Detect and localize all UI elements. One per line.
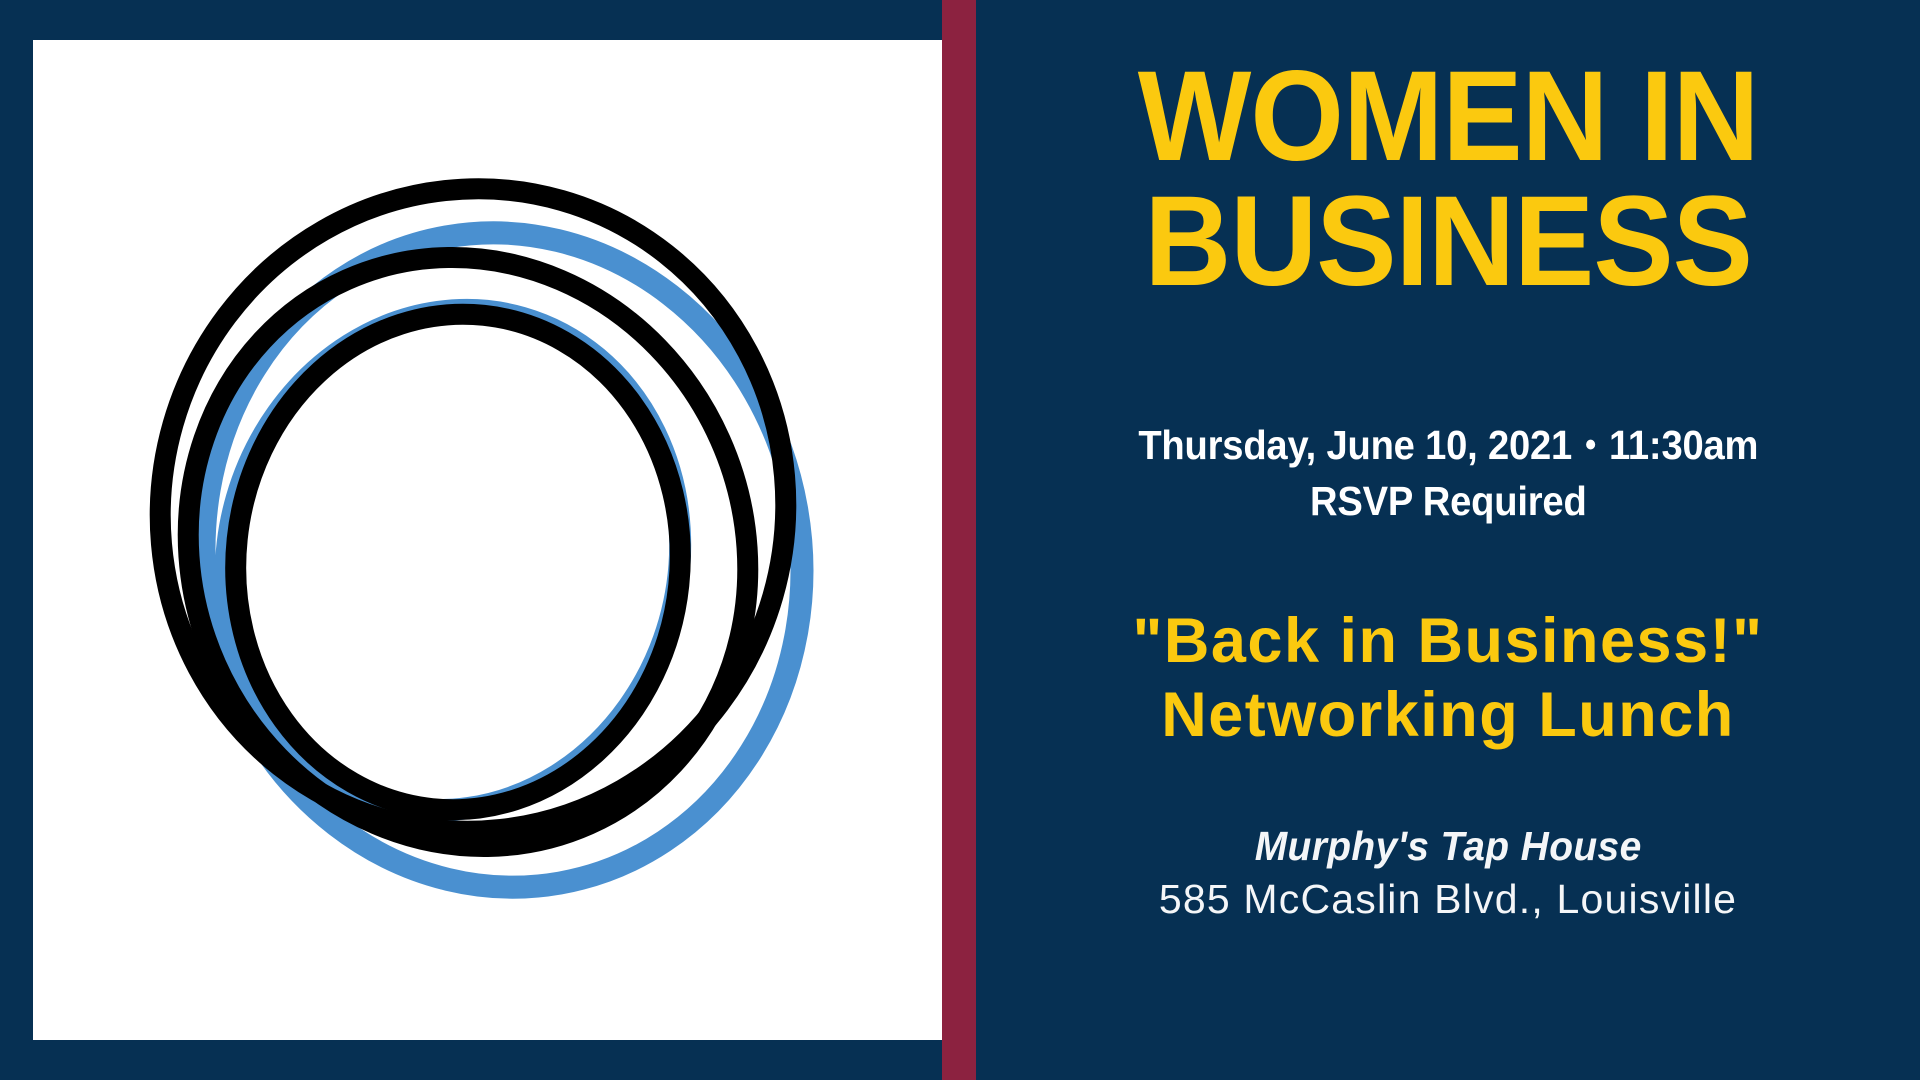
event-name-line-1: "Back in Business!"	[1133, 604, 1764, 678]
event-date: Thursday, June 10, 2021	[1138, 422, 1572, 468]
rings-artwork-icon	[33, 40, 942, 1040]
headline-line-1: WOMEN IN	[1138, 54, 1759, 179]
event-datetime: Thursday, June 10, 2021•11:30am RSVP Req…	[1138, 417, 1758, 530]
event-flyer: WOMEN IN BUSINESS Thursday, June 10, 202…	[0, 0, 1920, 1080]
rsvp-note: RSVP Required	[1138, 473, 1758, 530]
venue-name: Murphy's Tap House	[1173, 823, 1722, 870]
bullet-separator-icon: •	[1572, 426, 1609, 464]
venue-address: 585 McCaslin Blvd., Louisville	[1159, 876, 1737, 923]
event-name-line-2: Networking Lunch	[1133, 678, 1764, 752]
event-name: "Back in Business!" Networking Lunch	[1133, 604, 1764, 753]
date-time-line: Thursday, June 10, 2021•11:30am	[1138, 417, 1758, 474]
maroon-divider	[942, 0, 976, 1080]
text-column: WOMEN IN BUSINESS Thursday, June 10, 202…	[976, 0, 1920, 1080]
headline-line-2: BUSINESS	[1138, 179, 1759, 304]
venue-info: Murphy's Tap House 585 McCaslin Blvd., L…	[1159, 823, 1737, 923]
event-time: 11:30am	[1609, 422, 1758, 468]
page-title: WOMEN IN BUSINESS	[1138, 54, 1759, 305]
artwork-panel	[33, 40, 942, 1040]
